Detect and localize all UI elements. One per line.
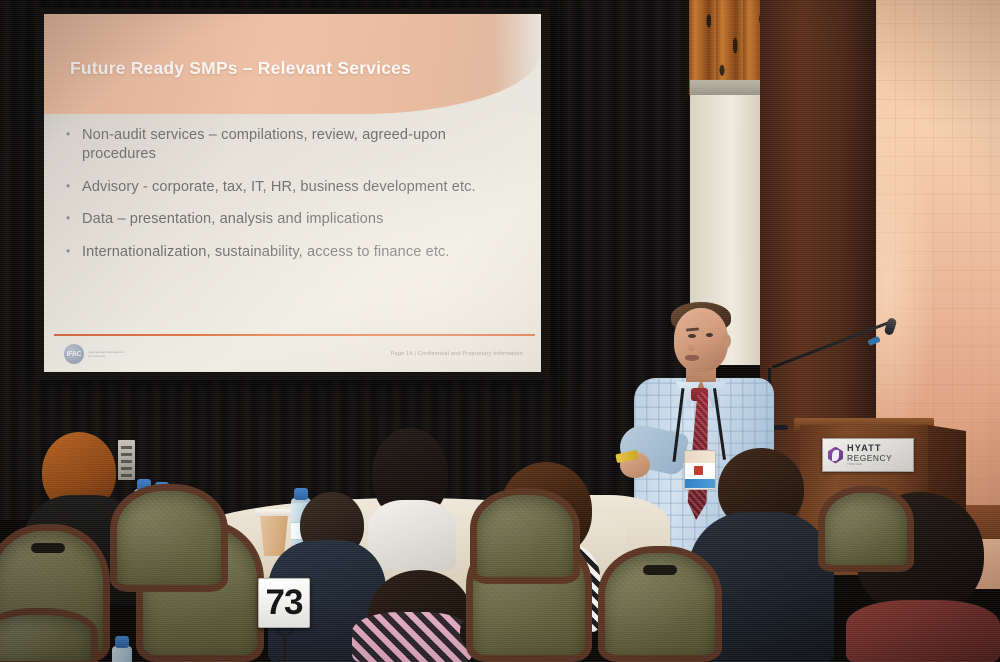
presenter-mouth (685, 355, 699, 361)
ifac-logo-tagline: International Federation of Accountants (88, 350, 130, 359)
bullet-text: Internationalization, sustainability, ac… (82, 243, 450, 262)
ifac-logo-mark: IFAC (64, 344, 84, 364)
hyatt-logo-mark (828, 447, 843, 464)
bullet-icon: • (66, 178, 82, 197)
slide-title: Future Ready SMPs – Relevant Services (70, 58, 411, 79)
audience-person-patterned-top (352, 612, 472, 662)
bullet-text: Non-audit services – compilations, revie… (82, 126, 516, 165)
presenter-eye-right (706, 333, 713, 337)
bullet-text: Data – presentation, analysis and implic… (82, 210, 384, 229)
slide-divider-rule (54, 334, 535, 336)
slide-footer: IFAC International Federation of Account… (44, 340, 541, 372)
list-item: • Data – presentation, analysis and impl… (66, 210, 516, 229)
ifac-logo-icon: IFAC International Federation of Account… (64, 344, 130, 364)
list-item: • Advisory - corporate, tax, IT, HR, bus… (66, 178, 516, 197)
table-number-stem (283, 634, 286, 662)
bullet-icon: • (66, 243, 82, 262)
wall-light-glow (876, 120, 936, 450)
bullet-text: Advisory - corporate, tax, IT, HR, busin… (82, 178, 476, 197)
presenter-ear (722, 334, 731, 348)
banquet-chair (110, 484, 228, 592)
banquet-chair (598, 546, 722, 662)
banquet-chair (818, 486, 914, 572)
table-number-card: 73 (258, 578, 310, 628)
table-sign-placard (118, 440, 135, 480)
hyatt-brand-location: TRINIDAD (847, 464, 892, 467)
hyatt-brand-line1: HYATT (847, 444, 892, 453)
audience-person-body (368, 500, 456, 570)
hyatt-brand-line2: REGENCY (847, 454, 892, 462)
conference-room-photo: Future Ready SMPs – Relevant Services • … (0, 0, 1000, 662)
hyatt-logo-icon: HYATT REGENCY TRINIDAD (822, 438, 914, 472)
coffee-cup-lid (255, 509, 293, 517)
water-bottle-icon (112, 646, 132, 662)
slide-bullet-list: • Non-audit services – compilations, rev… (66, 126, 516, 275)
projection-screen: Future Ready SMPs – Relevant Services • … (44, 14, 541, 372)
list-item: • Internationalization, sustainability, … (66, 243, 516, 262)
presenter-eye-left (688, 334, 696, 338)
banquet-chair (0, 608, 98, 662)
bullet-icon: • (66, 210, 82, 229)
bullet-icon: • (66, 126, 82, 165)
audience-person-body (846, 600, 1000, 662)
slide-footer-text: Page 14 | Confidential and Proprietary I… (391, 351, 523, 357)
name-badge-icon (684, 450, 716, 490)
presenter-nose (688, 341, 695, 351)
banquet-chair (470, 488, 580, 584)
list-item: • Non-audit services – compilations, rev… (66, 126, 516, 165)
presenter-head (674, 308, 728, 372)
